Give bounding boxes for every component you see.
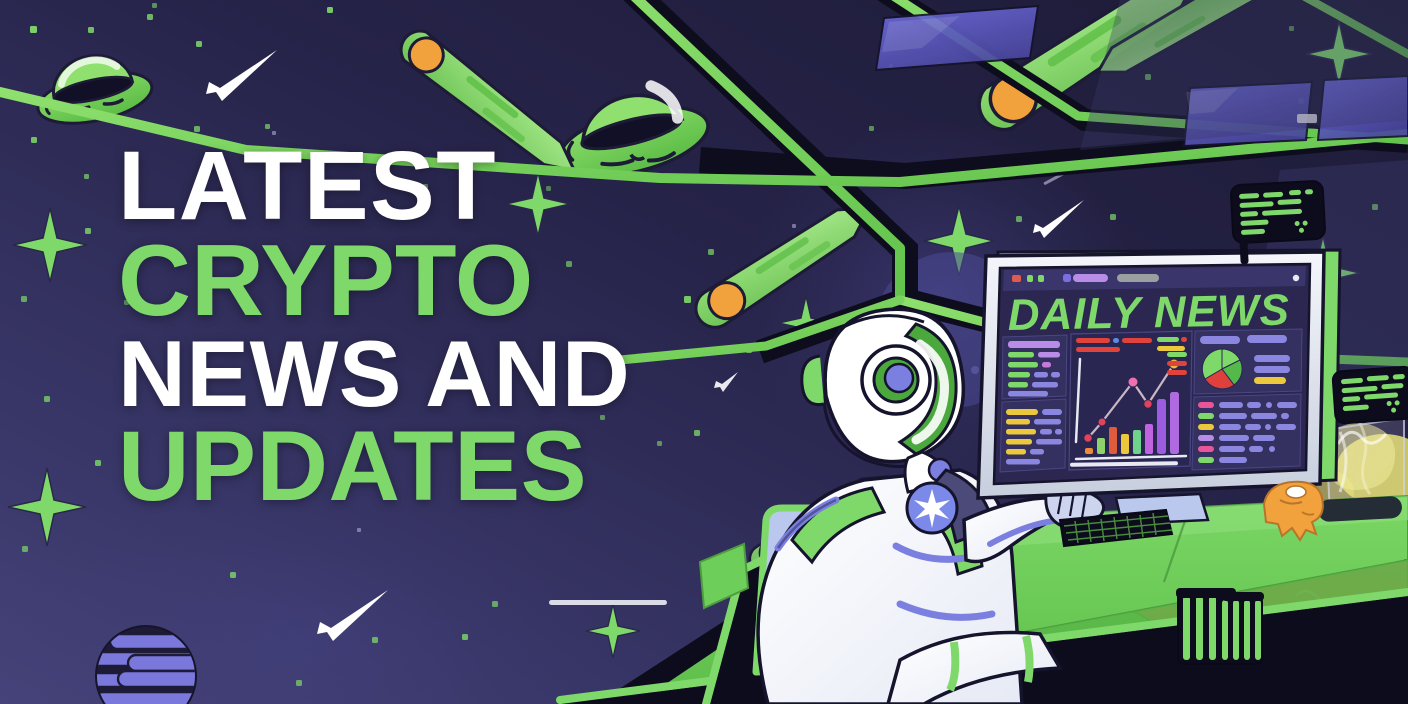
headline-line-1: LATEST (118, 140, 630, 233)
headline-line-4: UPDATES (118, 419, 630, 514)
hero-banner: DAILY NEWS (0, 0, 1408, 704)
wall-slats (1364, 355, 1408, 443)
headline-line-2: CRYPTO (118, 233, 630, 329)
headline-line-3: NEWS AND (118, 329, 630, 419)
headline: LATEST CRYPTO NEWS AND UPDATES (118, 140, 630, 513)
side-terminal-top[interactable] (1231, 181, 1326, 265)
